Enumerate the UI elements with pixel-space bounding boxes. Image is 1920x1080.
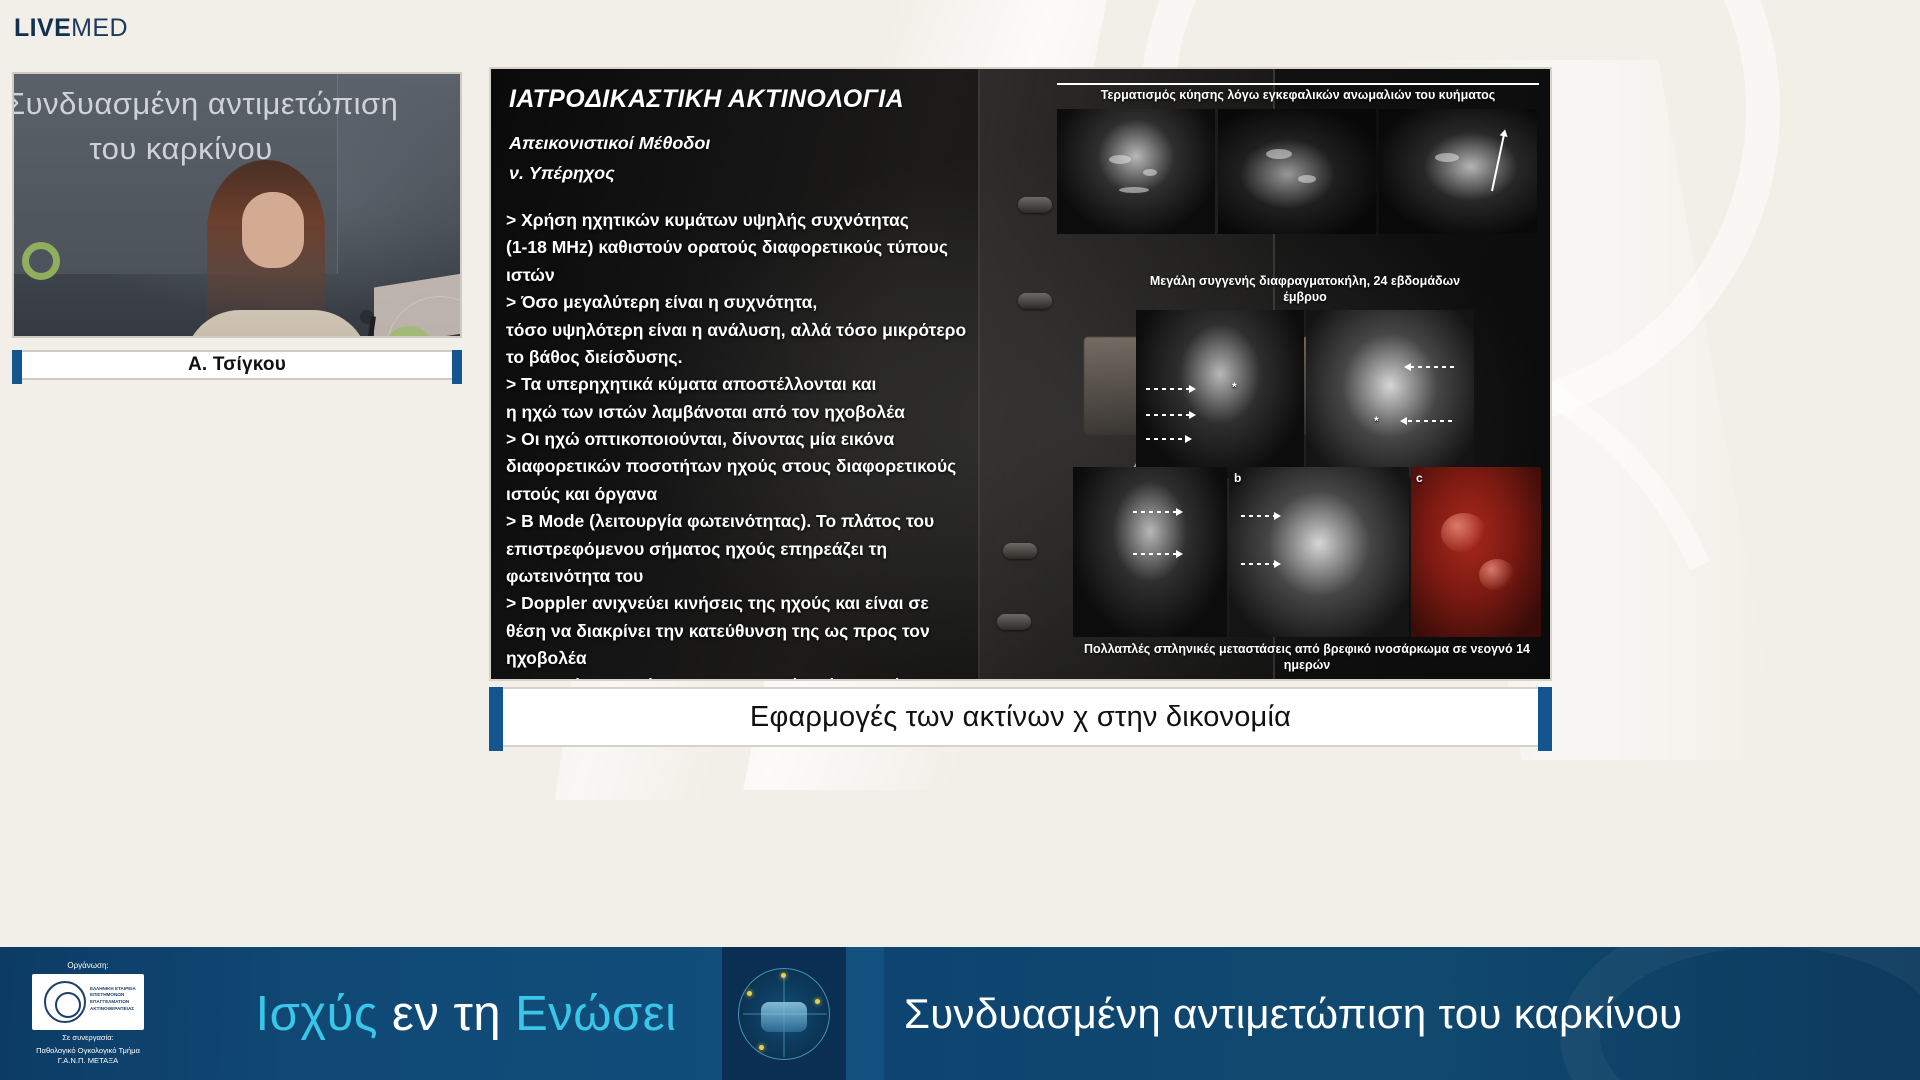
slide-body-line: > Doppler ανιχνεύει κινήσεις της ηχούς κ… xyxy=(506,590,1066,617)
cooperation-lines: Παθολογικό Ογκολογικό Τμήμα Γ.Α.Ν.Π. ΜΕΤ… xyxy=(8,1046,168,1067)
slogan-word-2: εν τη xyxy=(392,986,501,1042)
speaker-video-feed[interactable]: Συνδυασμένη αντιμετώπιση του καρκίνου xyxy=(12,72,462,338)
ct-image-1: * xyxy=(1306,310,1474,478)
figure-bottom-caption: Πολλαπλές σπληνικές μεταστάσεις από βρεφ… xyxy=(1073,642,1541,673)
organizer-logo-text: ΕΛΛΗΝΙΚΗ ΕΤΑΙΡΕΙΑ ΕΠΙΣΤΗΜΟΝΩΝ ΕΠΑΓΓΕΛΜΑΤ… xyxy=(90,986,142,1014)
dotted-arrow-6 xyxy=(1133,511,1177,513)
ct-image-2: b xyxy=(1229,467,1409,637)
slide-body-line: ηχοβολέα xyxy=(506,645,1066,672)
ultrasound-image-5 xyxy=(1073,467,1227,637)
dotted-arrow-8 xyxy=(1241,515,1275,517)
slide-body-line: > Οι ηχώ οπτικοποιούνται, δίνοντας μία ε… xyxy=(506,426,1066,453)
presenter-face xyxy=(242,192,304,268)
figure-top: Τερματισμός κύησης λόγω εγκεφαλικών ανωμ… xyxy=(1057,83,1539,234)
livemed-logo[interactable]: LIVEMED xyxy=(14,14,128,43)
footer-banner: Οργάνωση: ΕΛΛΗΝΙΚΗ ΕΤΑΙΡΕΙΑ ΕΠΙΣΤΗΜΟΝΩΝ … xyxy=(0,947,1920,1080)
slide-subtitle-line-2: ν. Υπέρηχος xyxy=(509,159,710,189)
slide-title: ΙΑΤΡΟΔΙΚΑΣΤΙΚΗ ΑΚΤΙΝΟΛΟΓΙΑ xyxy=(509,85,904,114)
slide-body-line: > Τα υπερηχητικά κύματα αποστέλλονται κα… xyxy=(506,371,1066,398)
slide-body-line: το βάθος διείσδυσης. xyxy=(506,344,1066,371)
ultrasound-image-4: * xyxy=(1136,310,1304,478)
slide-body-line: φωτεινότητα του xyxy=(506,563,1066,590)
dotted-arrow-9 xyxy=(1241,563,1275,565)
figure-top-images xyxy=(1057,109,1539,234)
slogan-word-3: Ενώσει xyxy=(515,986,676,1042)
organizer-block: Οργάνωση: ΕΛΛΗΝΙΚΗ ΕΤΑΙΡΕΙΑ ΕΠΙΣΤΗΜΟΝΩΝ … xyxy=(8,961,168,1067)
gross-specimen-image: c xyxy=(1411,467,1541,637)
slide-body-line: ιστών xyxy=(506,262,1066,289)
panel-label-c: c xyxy=(1416,471,1423,485)
name-bar-accent-left xyxy=(12,350,22,384)
slide-body-line: ιστούς και όργανα xyxy=(506,481,1066,508)
slide-body-line: > Όσο μεγαλύτερη είναι η συχνότητα, xyxy=(506,289,1066,316)
slide-body-line: > Χρήση ηχητικών κυμάτων υψηλής συχνότητ… xyxy=(506,207,1066,234)
projected-slide-line-1: Συνδυασμένη αντιμετώπιση xyxy=(12,86,398,121)
session-title-bar: Εφαρμογές των ακτίνων χ στην δικονομία xyxy=(489,687,1552,747)
globe-icon xyxy=(738,968,830,1060)
footer-left-panel: Οργάνωση: ΕΛΛΗΝΙΚΗ ΕΤΑΙΡΕΙΑ ΕΠΙΣΤΗΜΟΝΩΝ … xyxy=(0,947,884,1080)
logo-live-text: LIVE xyxy=(14,14,71,42)
slide-body-line: > B Mode (λειτουργία φωτεινότητας). Το π… xyxy=(506,508,1066,535)
figure-top-caption: Τερματισμός κύησης λόγω εγκεφαλικών ανωμ… xyxy=(1057,88,1539,104)
slide-body-line: επιστρεφόμενου σήματος ηχούς επηρεάζει τ… xyxy=(506,536,1066,563)
slide-subtitle: Απεικονιστικοί Μέθοδοι ν. Υπέρηχος xyxy=(509,129,710,188)
footer-right-panel: Συνδυασμένη αντιμετώπιση του καρκίνου xyxy=(884,947,1920,1080)
projected-slide-text: Συνδυασμένη αντιμετώπιση του καρκίνου xyxy=(12,82,356,172)
footer-swoosh-decoration xyxy=(1560,947,1920,1080)
dotted-arrow-4 xyxy=(1410,366,1454,368)
slide-body-line: > Δυνατότητα χρήσης σκιαγραφικών μέσων ε… xyxy=(506,672,1066,681)
organizer-label: Οργάνωση: xyxy=(8,961,168,972)
slide-body-text: > Χρήση ηχητικών κυμάτων υψηλής συχνότητ… xyxy=(506,207,1066,681)
figure-bottom-images: b c xyxy=(1073,467,1541,637)
figure-middle-images: * * xyxy=(1136,310,1474,478)
speaker-name-bar: Α. Τσίγκου xyxy=(12,350,462,380)
slide-subtitle-line-1: Απεικονιστικοί Μέθοδοι xyxy=(509,129,710,159)
figure-top-rule xyxy=(1057,83,1539,85)
webinar-player-page: LIVEMED Συνδυασμένη αντιμετώπιση του καρ… xyxy=(0,0,1920,1080)
speaker-panel: Συνδυασμένη αντιμετώπιση του καρκίνου Α.… xyxy=(12,72,462,380)
slide-viewer[interactable]: ΙΑΤΡΟΔΙΚΑΣΤΙΚΗ ΑΚΤΙΝΟΛΟΓΙΑ Απεικονιστικο… xyxy=(489,67,1552,681)
ultrasound-image-2 xyxy=(1218,109,1376,234)
slide-body-line: τόσο υψηλότερη είναι η ανάλυση, αλλά τόσ… xyxy=(506,317,1066,344)
annotation-arrow xyxy=(1491,134,1505,191)
panel-label-b: b xyxy=(1234,471,1241,485)
figure-middle-caption: Μεγάλη συγγενής διαφραγματοκήλη, 24 εβδο… xyxy=(1136,274,1474,305)
projected-slide-line-2: του καρκίνου xyxy=(12,127,356,172)
ultrasound-image-3 xyxy=(1379,109,1537,234)
session-bar-accent-right xyxy=(1538,687,1552,751)
logo-med-text: MED xyxy=(71,14,128,42)
slide-body-line: (1-18 MHz) καθιστούν ορατούς διαφορετικο… xyxy=(506,234,1066,261)
slide-body-line: θέση να διακρίνει την κατεύθυνση της ως … xyxy=(506,618,1066,645)
slide-body-line: διαφορετικών ποσοτήτων ηχούς στους διαφο… xyxy=(506,453,1066,480)
organizer-logo-ring-icon xyxy=(44,981,86,1023)
organizer-logo: ΕΛΛΗΝΙΚΗ ΕΤΑΙΡΕΙΑ ΕΠΙΣΤΗΜΟΝΩΝ ΕΠΑΓΓΕΛΜΑΤ… xyxy=(32,974,144,1030)
ultrasound-image-1 xyxy=(1057,109,1215,234)
dotted-arrow-7 xyxy=(1133,553,1177,555)
dotted-arrow-1 xyxy=(1146,388,1190,390)
slide-body-line: η ηχώ των ιστών λαμβάνοται από τον ηχοβο… xyxy=(506,399,1066,426)
session-bar-accent-left xyxy=(489,687,503,751)
figure-middle: Μεγάλη συγγενής διαφραγματοκήλη, 24 εβδο… xyxy=(1136,274,1474,478)
name-bar-accent-right xyxy=(452,350,462,384)
figure-bottom: b c Πολλαπλές σπληνικές μεταστάσεις από … xyxy=(1073,467,1541,673)
cooperation-label: Σε συνεργασία: xyxy=(8,1033,168,1043)
speaker-name: Α. Τσίγκου xyxy=(188,354,286,376)
congress-emblem-icon xyxy=(722,947,846,1080)
hands-icon xyxy=(761,1002,807,1032)
dotted-arrow-5 xyxy=(1406,420,1452,422)
session-title: Εφαρμογές των ακτίνων χ στην δικονομία xyxy=(750,701,1291,734)
dotted-arrow-3 xyxy=(1146,438,1186,440)
decorative-green-ring xyxy=(22,242,60,280)
dotted-arrow-2 xyxy=(1146,414,1190,416)
slogan-word-1: Ισχύς xyxy=(256,986,379,1042)
